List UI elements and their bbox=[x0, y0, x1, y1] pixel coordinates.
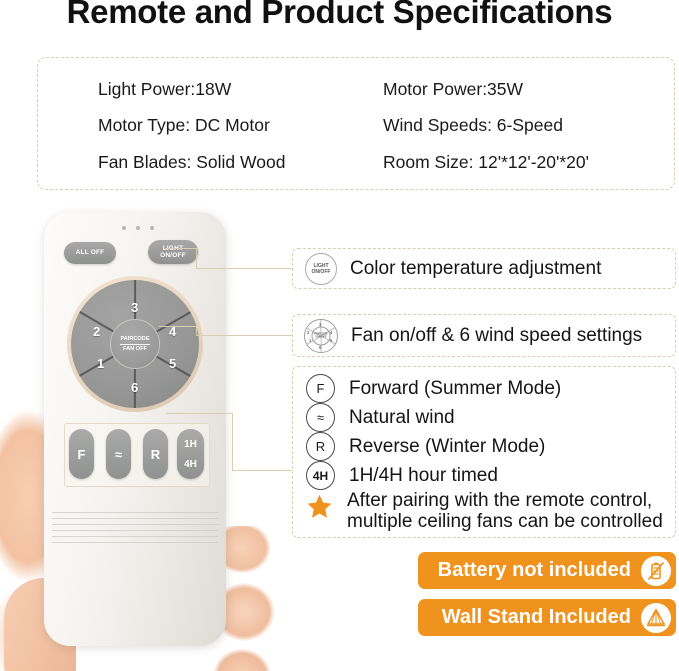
connector-line-dial-stub bbox=[159, 326, 197, 327]
badge-wall-stand-included: Wall Stand Included bbox=[418, 599, 676, 636]
callout-color-temperature: LIGHT ON/OFF Color temperature adjustmen… bbox=[292, 248, 676, 289]
forward-icon: F bbox=[306, 374, 335, 403]
wall-stand-icon bbox=[641, 603, 671, 633]
natural-wind-button[interactable]: ≈ bbox=[106, 429, 131, 479]
dial-button-2[interactable]: 2 bbox=[93, 324, 100, 339]
mini-number-5: 5 bbox=[330, 338, 332, 343]
battery-crossed-icon bbox=[641, 556, 671, 586]
badge-battery-label: Battery not included bbox=[438, 559, 631, 582]
paircode-fan-off-button[interactable]: PAIRCODE FAN OFF bbox=[110, 319, 160, 369]
spec-fan-blades: Fan Blades: Solid Wood bbox=[98, 154, 383, 172]
timer-button[interactable]: 1H 4H bbox=[177, 429, 204, 479]
timer-4h-label: 4H bbox=[184, 459, 197, 470]
fan-off-label: FAN OFF bbox=[123, 346, 147, 353]
star-icon bbox=[306, 493, 333, 520]
connector-line-dial bbox=[196, 335, 292, 336]
fan-dial-icon: 1 2 3 4 5 6 PAIRCODE FAN OFF bbox=[304, 319, 338, 353]
page-title: Remote and Product Specifications bbox=[0, 0, 679, 31]
legend-row-timer: 4H 1H/4H hour timed bbox=[306, 461, 675, 490]
mini-hub: PAIRCODE FAN OFF bbox=[312, 326, 331, 345]
callout-fan-speed-text: Fan on/off & 6 wind speed settings bbox=[351, 325, 642, 347]
dial-button-1[interactable]: 1 bbox=[97, 356, 104, 371]
legend-row-forward: F Forward (Summer Mode) bbox=[306, 374, 675, 403]
spec-motor-power: Motor Power:35W bbox=[383, 81, 658, 99]
legend-reverse-text: Reverse (Winter Mode) bbox=[349, 436, 545, 457]
connector-line-buttons-riser bbox=[232, 413, 233, 471]
badge-wall-stand-label: Wall Stand Included bbox=[442, 606, 631, 629]
callout-color-temperature-text: Color temperature adjustment bbox=[350, 258, 601, 280]
dial-button-5[interactable]: 5 bbox=[169, 356, 176, 371]
spec-room-size: Room Size: 12'*12'-20'*20' bbox=[383, 154, 658, 172]
reverse-button[interactable]: R bbox=[143, 429, 168, 479]
callout-legend: F Forward (Summer Mode) ≈ Natural wind R… bbox=[292, 366, 676, 538]
all-off-button[interactable]: ALL OFF bbox=[64, 242, 116, 264]
badge-battery-not-included: Battery not included bbox=[418, 552, 676, 589]
all-off-label: ALL OFF bbox=[76, 249, 105, 256]
legend-pairing-text: After pairing with the remote control, m… bbox=[347, 490, 675, 533]
speed-dial-inner: 1 2 3 4 5 6 PAIRCODE FAN OFF bbox=[71, 280, 199, 408]
grip-ribs bbox=[44, 512, 226, 552]
timer-1h-label: 1H bbox=[184, 439, 197, 450]
callout-fan-speed: 1 2 3 4 5 6 PAIRCODE FAN OFF Fan on/off … bbox=[292, 314, 676, 357]
remote-control-body: ALL OFF LIGHT ON/OFF 1 2 3 4 5 6 PAIR bbox=[44, 212, 226, 646]
legend-row-natural-wind: ≈ Natural wind bbox=[306, 403, 675, 432]
light-label-line2: ON/OFF bbox=[160, 252, 186, 259]
natural-wind-icon: ≈ bbox=[306, 403, 335, 432]
mini-number-6: 6 bbox=[319, 345, 321, 350]
connector-line-light bbox=[196, 268, 292, 269]
connector-line-buttons-stub bbox=[166, 413, 233, 414]
specifications-box: Light Power:18W Motor Power:35W Motor Ty… bbox=[37, 57, 675, 190]
paircode-label: PAIRCODE bbox=[120, 336, 149, 343]
forward-button[interactable]: F bbox=[69, 429, 94, 479]
legend-forward-text: Forward (Summer Mode) bbox=[349, 378, 561, 399]
reverse-icon: R bbox=[306, 432, 335, 461]
light-on-off-button[interactable]: LIGHT ON/OFF bbox=[148, 240, 198, 264]
dial-button-3[interactable]: 3 bbox=[131, 300, 138, 315]
hub-divider bbox=[120, 344, 150, 345]
legend-natural-wind-text: Natural wind bbox=[349, 407, 455, 428]
spec-light-power: Light Power:18W bbox=[98, 81, 383, 99]
connector-line-buttons bbox=[232, 470, 292, 471]
mini-hub-line2: FAN OFF bbox=[315, 336, 326, 339]
mini-number-2: 2 bbox=[307, 330, 309, 335]
ir-emitter-dots bbox=[122, 225, 154, 230]
light-on-off-icon: LIGHT ON/OFF bbox=[305, 253, 337, 285]
light-icon-line2: ON/OFF bbox=[312, 269, 331, 275]
dial-button-6[interactable]: 6 bbox=[131, 380, 138, 395]
connector-line-light-stub bbox=[165, 248, 197, 249]
connector-line-dial-riser bbox=[196, 326, 197, 336]
specifications-grid: Light Power:18W Motor Power:35W Motor Ty… bbox=[98, 71, 658, 181]
spec-motor-type: Motor Type: DC Motor bbox=[98, 117, 383, 135]
connector-line-light-riser bbox=[196, 248, 197, 269]
timer-icon: 4H bbox=[306, 461, 335, 490]
spec-wind-speeds: Wind Speeds: 6-Speed bbox=[383, 117, 658, 135]
legend-row-pairing: After pairing with the remote control, m… bbox=[306, 490, 675, 536]
speed-dial[interactable]: 1 2 3 4 5 6 PAIRCODE FAN OFF bbox=[67, 276, 203, 412]
legend-row-reverse: R Reverse (Winter Mode) bbox=[306, 432, 675, 461]
legend-timer-text: 1H/4H hour timed bbox=[349, 465, 498, 486]
